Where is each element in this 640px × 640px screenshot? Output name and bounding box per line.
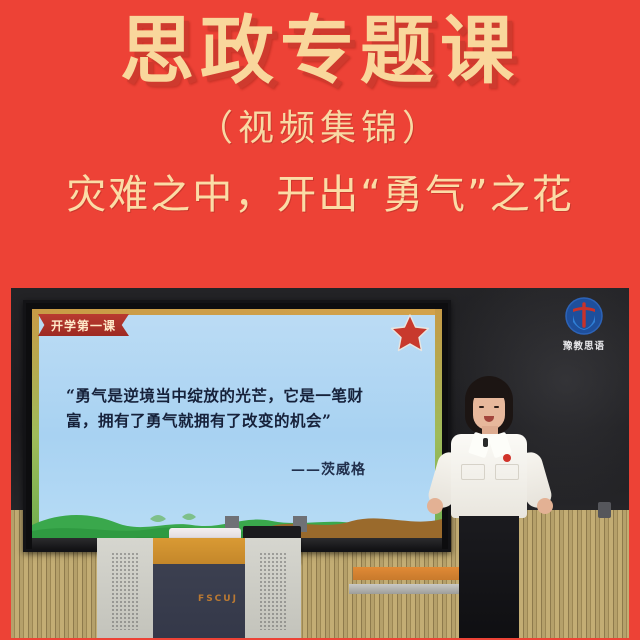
slide-quote-attribution: ——茨威格	[66, 459, 366, 479]
podium-speaker-right	[245, 538, 301, 638]
podium-brand-text: FSCUJ	[198, 594, 238, 604]
teacher-hair-front	[469, 380, 509, 398]
poster-header: 思政专题课 （视频集锦） 灾难之中，开出“勇气”之花	[0, 0, 640, 288]
wall-device-icon	[598, 502, 611, 518]
poster-subtitle: （视频集锦）	[197, 108, 443, 150]
poster-tagline: 灾难之中，开出“勇气”之花	[66, 172, 573, 218]
teacher-microphone-icon	[483, 438, 488, 447]
classroom-photo: 豫教思语 开学第一课 “勇气是逆境当中绽放的光芒，它是一笔财富，拥有了勇气就拥有…	[11, 288, 629, 638]
podium-speaker-left	[97, 538, 153, 638]
yujiao-siyu-logo-icon	[564, 296, 604, 336]
teacher-eye-right	[494, 406, 499, 408]
teacher-hand-left	[427, 498, 443, 514]
presenting-teacher	[425, 376, 553, 638]
slide-ribbon-banner: 开学第一课	[38, 314, 129, 336]
teacher-pocket-left	[461, 464, 485, 480]
teacher-skirt	[459, 516, 519, 638]
teacher-eye-left	[479, 406, 484, 408]
projected-slide: 开学第一课 “勇气是逆境当中绽放的光芒，它是一笔财富，拥有了勇气就拥有了改变的机…	[32, 309, 442, 539]
teacher-pocket-right	[495, 464, 519, 480]
red-star-icon	[390, 314, 430, 352]
classroom-podium: FSCUJ	[97, 520, 337, 638]
poster-root: 思政专题课 （视频集锦） 灾难之中，开出“勇气”之花 豫教思语	[0, 0, 640, 640]
teacher-hand-right	[537, 498, 553, 514]
channel-logo-text: 豫教思语	[557, 338, 611, 352]
page-title: 思政专题课	[120, 8, 520, 94]
classroom-display-board: 开学第一课 “勇气是逆境当中绽放的光芒，它是一笔财富，拥有了勇气就拥有了改变的机…	[23, 300, 451, 552]
slide-quote-text: “勇气是逆境当中绽放的光芒，它是一笔财富，拥有了勇气就拥有了改变的机会”	[66, 383, 366, 433]
teacher-badge-icon	[503, 454, 511, 462]
teacher-mouth	[484, 416, 494, 422]
channel-logo: 豫教思语	[557, 296, 611, 352]
speaker-grill-icon	[111, 552, 139, 630]
speaker-grill-icon	[259, 552, 287, 630]
